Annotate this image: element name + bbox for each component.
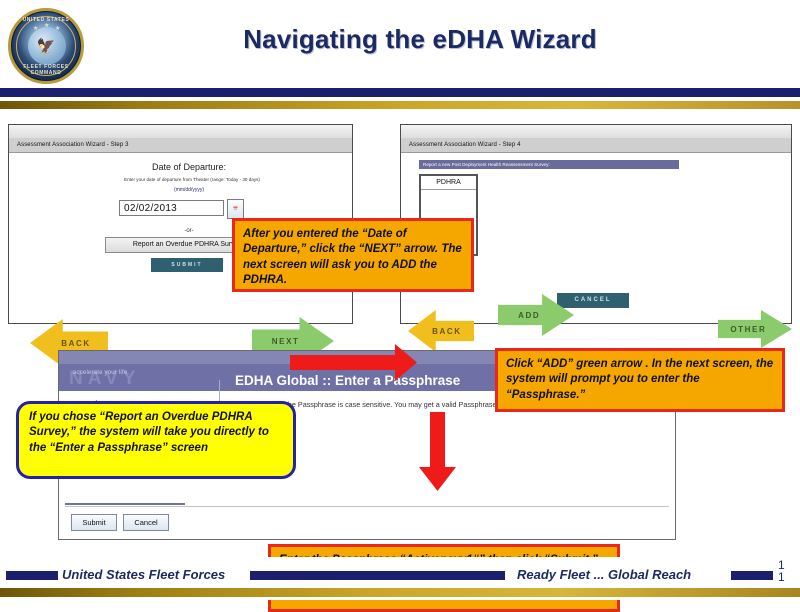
footer-bar-right: [731, 571, 773, 580]
seal-eagle-icon: 🦅: [31, 40, 61, 54]
date-of-departure-label: Date of Departure:: [109, 162, 269, 172]
footer-bar-left: [6, 571, 58, 580]
page-title: Navigating the eDHA Wizard: [90, 24, 750, 55]
step3-window-title: Assessment Association Wizard - Step 3: [9, 138, 352, 153]
calendar-icon[interactable]: 📅: [227, 199, 244, 219]
page-number: 11: [778, 559, 785, 583]
callout-overdue-survey: If you chose “Report an Overdue PDHRA Su…: [16, 401, 296, 479]
step3-submit-button[interactable]: SUBMIT: [151, 258, 223, 272]
header-gold-band: [0, 101, 800, 109]
connector-arrow-horizontal-shaft: [290, 355, 402, 370]
seal-bottom-text: FLEET FORCES COMMAND: [11, 64, 81, 76]
footer-gold-band: [0, 588, 800, 597]
footer-rule-accent: [65, 503, 185, 505]
callout-next-arrow: After you entered the “Date of Departure…: [232, 218, 474, 292]
browser-chrome-bar: [9, 125, 352, 139]
footer-bar-middle: [250, 571, 505, 580]
date-of-departure-input[interactable]: 02/02/2013: [119, 200, 224, 216]
back-arrow-label-2: BACK: [432, 327, 462, 336]
other-arrow-label: OTHER: [730, 325, 766, 334]
date-format-hint: (mm/dd/yyyy): [109, 187, 269, 193]
callout-add-arrow: Click “ADD” green arrow . In the next sc…: [495, 348, 785, 412]
navy-tagline: accelerate your life.: [73, 370, 129, 376]
step4-window-title: Assessment Association Wizard - Step 4: [401, 138, 791, 153]
footer-right-text: Ready Fleet ... Global Reach: [517, 567, 691, 582]
pdhra-card-label: PDHRA: [421, 176, 476, 190]
slide-body: Assessment Association Wizard - Step 3 D…: [0, 112, 800, 557]
footer-rule: [65, 506, 669, 507]
step4-cancel-button[interactable]: CANCEL: [557, 293, 629, 308]
step4-banner: Report a new Post Deployment Health Reas…: [419, 160, 679, 169]
fleet-forces-seal: UNITED STATES ★ ★ ★ 🦅 FLEET FORCES COMMA…: [8, 8, 84, 84]
header-navy-band: [0, 88, 800, 97]
passphrase-page-title: EDHA Global :: Enter a Passphrase: [235, 373, 460, 388]
slide-footer: United States Fleet Forces Ready Fleet .…: [0, 557, 800, 600]
next-arrow-label: NEXT: [272, 337, 300, 346]
connector-arrow-vertical-shaft: [430, 412, 445, 472]
date-hint-text: Enter your date of departure from Theate…: [97, 177, 287, 182]
add-arrow-label: ADD: [518, 311, 540, 320]
passphrase-submit-button[interactable]: Submit: [71, 514, 117, 531]
passphrase-cancel-button[interactable]: Cancel: [123, 514, 169, 531]
footer-left-text: United States Fleet Forces: [62, 567, 225, 582]
browser-chrome-bar-2: [401, 125, 791, 139]
back-arrow-label-1: BACK: [61, 339, 91, 348]
